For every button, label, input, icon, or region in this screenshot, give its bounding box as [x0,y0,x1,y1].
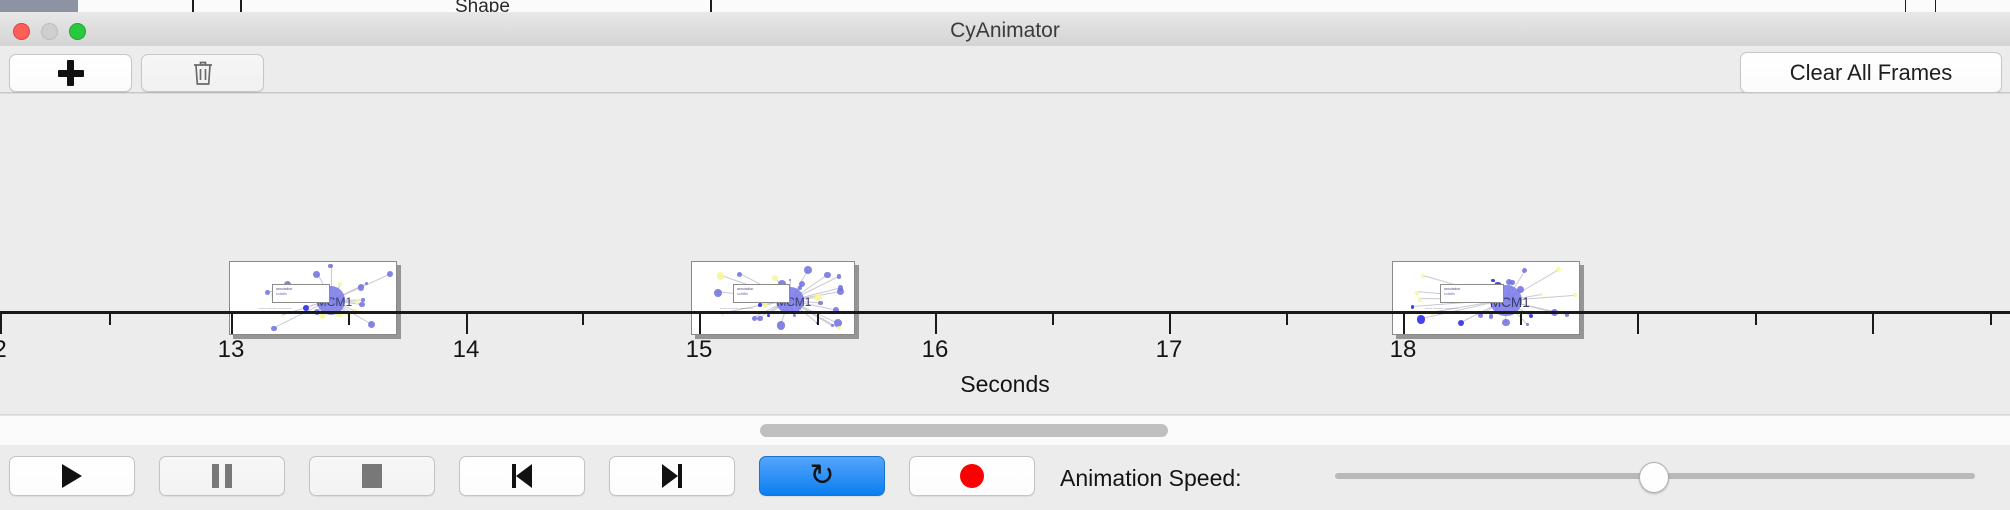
graph-node [714,289,722,297]
ruler-tick-label: 18 [1390,336,1417,364]
ruler-tick-major [1872,314,1874,334]
previous-frame-button[interactable] [459,456,585,496]
graph-node [271,326,277,332]
bg-chunk [0,0,79,12]
stop-button[interactable] [309,456,435,496]
bg-tick [240,0,242,12]
graph-node [837,274,842,279]
transport-bar: ↻ Animation Speed: [0,445,2010,510]
next-frame-button[interactable] [609,456,735,496]
graph-annotation-box: annotationsubtitle [733,284,790,303]
ruler-tick-major [935,314,937,334]
stop-icon [362,464,382,488]
ruler-tick-major [1637,314,1639,334]
ruler-tick-minor [1286,314,1288,325]
ruler-tick-minor [1755,314,1757,325]
window-title: CyAnimator [0,19,2010,43]
graph-node [717,272,724,279]
graph-caption-text: —— ——— ———— [259,306,292,310]
graph-node [338,282,341,285]
graph-node [799,281,805,287]
graph-node [831,324,834,327]
network-graph-preview: MCM1annotationsubtitle—— ——— ———— [692,262,854,334]
graph-node [359,302,365,308]
ruler-tick-minor [348,314,350,325]
bg-chunk [244,0,307,12]
ruler-tick-label: 17 [1156,336,1183,364]
timeline-scrollbar[interactable] [0,415,2010,446]
graph-node [1411,305,1415,309]
graph-node [793,314,796,317]
bg-chunk [78,0,189,12]
graph-node [1522,268,1527,273]
timeline-axis-title: Seconds [0,371,2010,398]
ruler-tick-label: 2 [0,336,7,364]
animation-speed-label: Animation Speed: [1060,465,1242,492]
graph-node [757,316,762,321]
graph-node [1526,323,1529,326]
graph-node [368,321,375,328]
graph-node [328,264,333,269]
graph-node [1502,319,1509,326]
animation-speed-slider[interactable] [1335,473,1975,479]
bg-tick [710,0,712,12]
bg-chunk [188,0,245,12]
loop-icon: ↻ [809,462,834,490]
ruler-tick-minor [1990,314,1992,325]
ruler-tick-minor [817,314,819,325]
delete-frame-button[interactable] [141,54,264,92]
cyanimator-window: Shape CyAnimator Clear All Frames [0,0,2010,510]
graph-node [1489,314,1494,319]
ruler-tick-minor [1520,314,1522,325]
graph-caption-text: —— ——— ———— [720,306,753,310]
plus-icon [58,60,84,86]
loop-button[interactable]: ↻ [759,456,885,496]
graph-node [1415,291,1419,295]
graph-annotation-box: annotationsubtitle [1440,284,1504,303]
ruler-tick-minor [109,314,111,325]
ruler-tick-major [1403,314,1405,334]
graph-caption-text: —— ——— ———— [1425,306,1458,310]
play-button[interactable] [9,456,135,496]
graph-node [1421,274,1425,278]
frame-thumbnail-1[interactable]: MCM1annotationsubtitle—— ——— ———— [229,261,397,335]
graph-node [824,272,830,278]
graph-node [1529,314,1533,318]
pause-button[interactable] [159,456,285,496]
graph-node [1573,293,1577,297]
scrollbar-thumb[interactable] [760,424,1168,437]
window-titlebar: CyAnimator [0,12,2010,47]
clear-all-frames-button[interactable]: Clear All Frames [1740,52,2002,93]
graph-node [281,315,284,318]
record-icon [960,464,984,488]
ruler-tick-major [466,314,468,334]
trash-icon [192,60,214,86]
timeline-panel[interactable]: MCM1annotationsubtitle—— ——— ————MCM1ann… [0,93,2010,415]
ruler-tick-major [699,314,701,334]
graph-node [1510,280,1515,285]
graph-node [361,298,364,301]
graph-node [1458,320,1464,326]
bg-tick [192,0,194,12]
bg-chunk [780,0,2010,12]
graph-node [763,304,768,309]
graph-node [1540,293,1543,296]
network-graph-preview: MCM1annotationsubtitle—— ——— ———— [1393,262,1579,334]
frame-toolbar: Clear All Frames [0,46,2010,93]
ruler-tick-minor [582,314,584,325]
record-button[interactable] [909,456,1035,496]
ruler-tick-minor [1052,314,1054,325]
graph-node [758,303,762,307]
clear-all-frames-label: Clear All Frames [1790,60,1953,86]
ruler-tick-label: 16 [922,336,949,364]
graph-node [789,279,792,282]
graph-node [387,271,393,277]
add-frame-button[interactable] [9,54,132,92]
ruler-tick-label: 15 [686,336,713,364]
skip-forward-icon [660,464,684,488]
ruler-tick-label: 13 [218,336,245,364]
graph-node [837,288,844,295]
bg-chunk [738,0,781,12]
ruler-tick-major [1169,314,1171,334]
ruler-tick-major [0,314,2,334]
ruler-tick-major [231,314,233,334]
graph-node [767,314,770,317]
graph-node [804,266,812,274]
graph-node [777,321,785,329]
ruler-axis-line [0,311,2010,314]
bg-tick [1935,0,1936,12]
ruler-tick-label: 14 [453,336,480,364]
skip-back-icon [510,464,534,488]
graph-node [1418,297,1423,302]
graph-node [1491,279,1495,283]
graph-node [737,272,742,277]
play-icon [62,464,82,488]
frame-thumbnail-2[interactable]: MCM1annotationsubtitle—— ——— ———— [691,261,855,335]
graph-annotation-box: annotationsubtitle [272,284,330,303]
graph-node [1556,267,1561,272]
pause-icon [212,464,232,488]
graph-node [1417,315,1425,323]
bg-chunk [306,0,419,12]
animation-speed-slider-thumb[interactable] [1639,462,1669,493]
bg-tick [1905,0,1906,12]
graph-node [818,301,822,305]
graph-node [837,326,841,330]
graph-node [265,290,270,295]
timeline-top-divider [0,93,2010,94]
graph-node [358,284,365,291]
network-graph-preview: MCM1annotationsubtitle—— ——— ———— [230,262,396,334]
frame-thumbnail-3[interactable]: MCM1annotationsubtitle—— ——— ———— [1392,261,1580,335]
